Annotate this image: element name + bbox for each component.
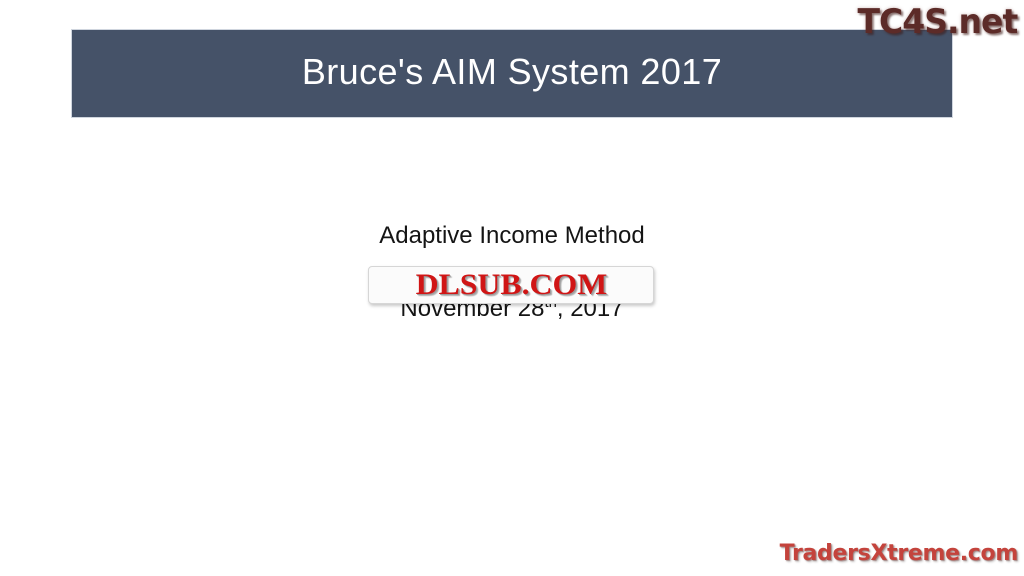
- presentation-slide: Bruce's AIM System 2017 Adaptive Income …: [0, 0, 1024, 576]
- tradersxtreme-watermark: TradersXtreme.com: [762, 538, 1020, 570]
- tc4s-watermark: TC4S.net: [820, 1, 1024, 43]
- dlsub-watermark-text: DLSUB.COM: [415, 270, 607, 300]
- tc4s-watermark-text: TC4S.net: [858, 5, 1018, 39]
- slide-title: Bruce's AIM System 2017: [302, 54, 722, 94]
- dlsub-watermark-badge: DLSUB.COM: [368, 266, 654, 304]
- tradersxtreme-watermark-text: TradersXtreme.com: [780, 543, 1018, 565]
- slide-subtitle: Adaptive Income Method: [0, 222, 1024, 250]
